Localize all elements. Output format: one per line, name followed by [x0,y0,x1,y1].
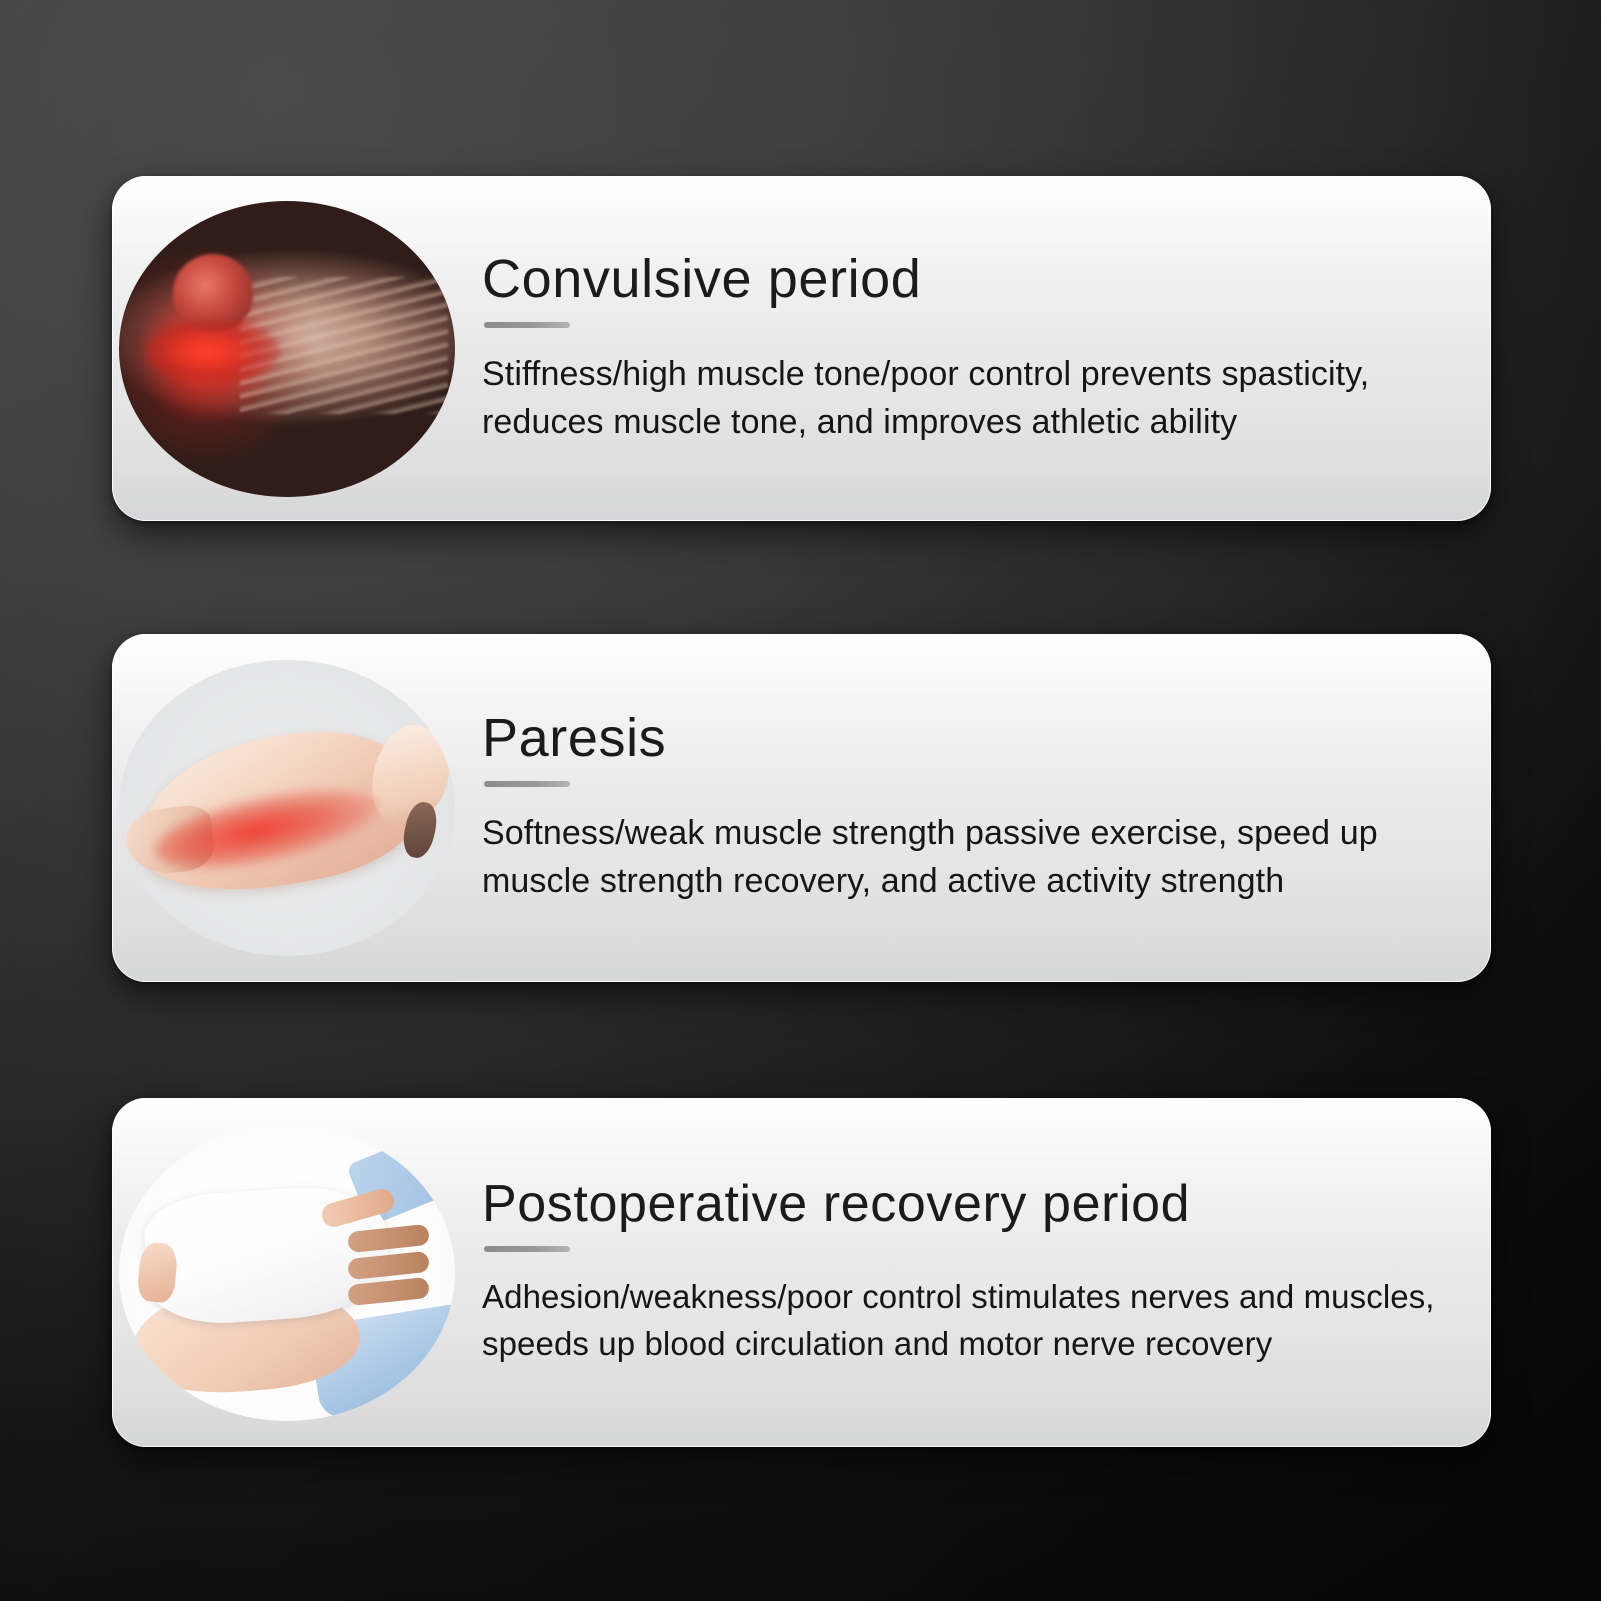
infographic-stage: Convulsive period Stiffness/high muscle … [0,0,1601,1601]
card-description: Stiffness/high muscle tone/poor control … [482,350,1451,447]
card-thumbnail-3 [112,1098,462,1447]
bandaged-wrist-icon [119,1125,455,1421]
feature-card-convulsive-period[interactable]: Convulsive period Stiffness/high muscle … [112,176,1491,521]
card-title: Paresis [482,710,1451,767]
feature-card-paresis[interactable]: Paresis Softness/weak muscle strength pa… [112,634,1491,982]
card-thumbnail-1 [112,176,462,521]
card-title: Postoperative recovery period [482,1177,1451,1232]
card-inner: Paresis Softness/weak muscle strength pa… [112,634,1491,982]
red-pain-glow [146,319,280,384]
card-content-3: Postoperative recovery period Adhesion/w… [462,1177,1491,1367]
title-divider [484,781,570,787]
hand-wrist-red-glow-icon [119,201,455,497]
title-divider [484,322,570,328]
card-thumbnail-2 [112,634,462,982]
card-title: Convulsive period [482,251,1451,308]
feature-card-postoperative-recovery-period[interactable]: Postoperative recovery period Adhesion/w… [112,1098,1491,1447]
card-description: Adhesion/weakness/poor control stimulate… [482,1274,1451,1368]
card-content-1: Convulsive period Stiffness/high muscle … [462,251,1491,446]
card-inner: Convulsive period Stiffness/high muscle … [112,176,1491,521]
card-inner: Postoperative recovery period Adhesion/w… [112,1098,1491,1447]
card-content-2: Paresis Softness/weak muscle strength pa… [462,710,1491,905]
forearm-red-streak-icon [119,660,455,956]
title-divider [484,1246,570,1252]
card-description: Softness/weak muscle strength passive ex… [482,809,1451,906]
